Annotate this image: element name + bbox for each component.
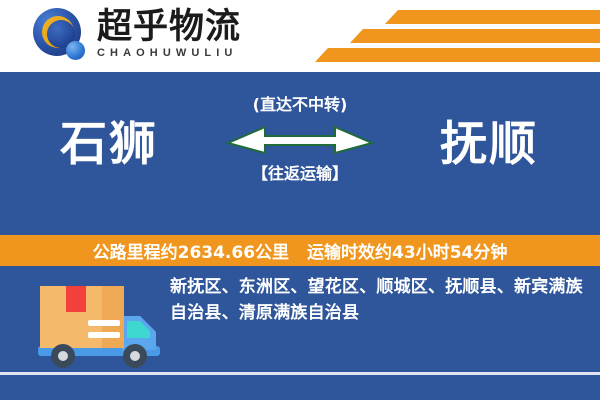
route-section: 石狮 (直达不中转) 【往返运输】 抚顺 [0,72,600,233]
route-info-bar: 公路里程约2634.66公里 运输时效约43小时54分钟 [0,235,600,266]
origin-city: 石狮 [60,119,158,171]
road-distance-text: 公路里程约2634.66公里 [93,238,289,263]
double-headed-arrow-icon [225,119,375,159]
route-note-direct: (直达不中转) [225,94,375,116]
company-name-pinyin: CHAOHUWULIU [97,47,267,59]
logo-wordmark: 超乎物流 CHAOHUWULIU [97,8,267,68]
covered-districts-text: 新抚区、东洲区、望花区、顺城区、抚顺县、新宾满族 自治县、清原满族自治县 [170,274,590,326]
delivery-truck-icon [30,278,166,370]
banner-header: 超乎物流 CHAOHUWULIU [0,0,600,72]
company-name-cn: 超乎物流 [97,8,267,46]
header-stripes-decoration [310,10,600,66]
header-stripe-2 [350,29,600,43]
destination-city: 抚顺 [440,119,538,171]
route-middle-group: (直达不中转) 【往返运输】 [225,94,375,212]
route-note-roundtrip: 【往返运输】 [225,163,375,185]
header-stripe-1 [385,10,600,24]
coverage-section: 新抚区、东洲区、望花区、顺城区、抚顺县、新宾满族 自治县、清原满族自治县 [0,266,600,400]
covered-districts-line-1: 新抚区、东洲区、望花区、顺城区、抚顺县、新宾满族 [170,274,590,300]
covered-districts-line-2: 自治县、清原满族自治县 [170,300,590,326]
logo-dot-shape [66,41,85,60]
chaohu-circle-logo-icon [33,8,89,64]
header-stripe-3 [315,48,600,62]
transit-time-text: 运输时效约43小时54分钟 [307,238,507,263]
bottom-divider [0,372,600,375]
logistics-route-banner: 超乎物流 CHAOHUWULIU 石狮 (直达不中转) 【往返运输】 抚顺 公路… [0,0,600,400]
